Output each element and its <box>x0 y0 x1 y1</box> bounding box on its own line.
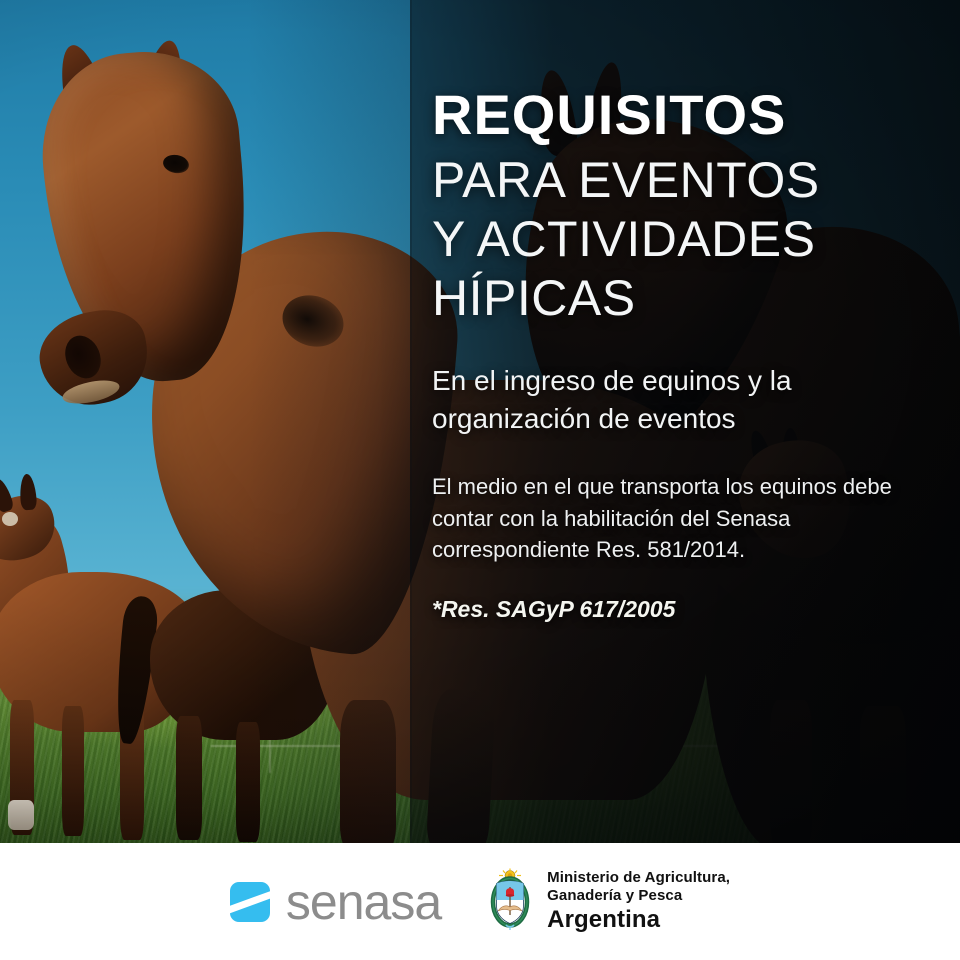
senasa-logo: senasa <box>230 877 441 927</box>
poster-root: REQUISITOS PARA EVENTOS Y ACTIVIDADES HÍ… <box>0 0 960 960</box>
horse-silhouette <box>860 706 906 843</box>
horse-silhouette <box>340 700 396 843</box>
horse-silhouette <box>176 716 202 840</box>
horse-silhouette <box>62 706 84 836</box>
subtitle-line-3: HÍPICAS <box>432 269 932 328</box>
fence-post <box>269 739 271 773</box>
subtitle-line-1: PARA EVENTOS <box>432 151 932 210</box>
poster-text-block: REQUISITOS PARA EVENTOS Y ACTIVIDADES HÍ… <box>432 86 932 623</box>
ministry-logo: Ministerio de Agricultura, Ganadería y P… <box>485 867 730 937</box>
ministry-country: Argentina <box>547 906 730 934</box>
page-subtitle: PARA EVENTOS Y ACTIVIDADES HÍPICAS <box>432 151 932 328</box>
horse-silhouette <box>236 722 260 842</box>
ministry-line-2: Ganadería y Pesca <box>547 887 730 904</box>
resolution-note: *Res. SAGyP 617/2005 <box>432 596 932 623</box>
senasa-square-slash-icon <box>230 882 270 922</box>
footer-bar: senasa <box>0 843 960 960</box>
page-title: REQUISITOS <box>432 86 932 143</box>
ministry-line-1: Ministerio de Agricultura, <box>547 869 730 886</box>
lead-paragraph: En el ingreso de equinos y la organizaci… <box>432 362 872 437</box>
senasa-wordmark: senasa <box>286 877 441 927</box>
horse-silhouette <box>8 800 34 830</box>
subtitle-line-2: Y ACTIVIDADES <box>432 210 932 269</box>
ministry-text: Ministerio de Agricultura, Ganadería y P… <box>547 869 730 934</box>
horse-silhouette <box>2 512 18 526</box>
horse-silhouette <box>426 688 496 843</box>
body-paragraph: El medio en el que transporta los equino… <box>432 471 902 566</box>
argentina-coat-of-arms-icon <box>485 867 535 937</box>
horse-silhouette <box>770 700 812 843</box>
